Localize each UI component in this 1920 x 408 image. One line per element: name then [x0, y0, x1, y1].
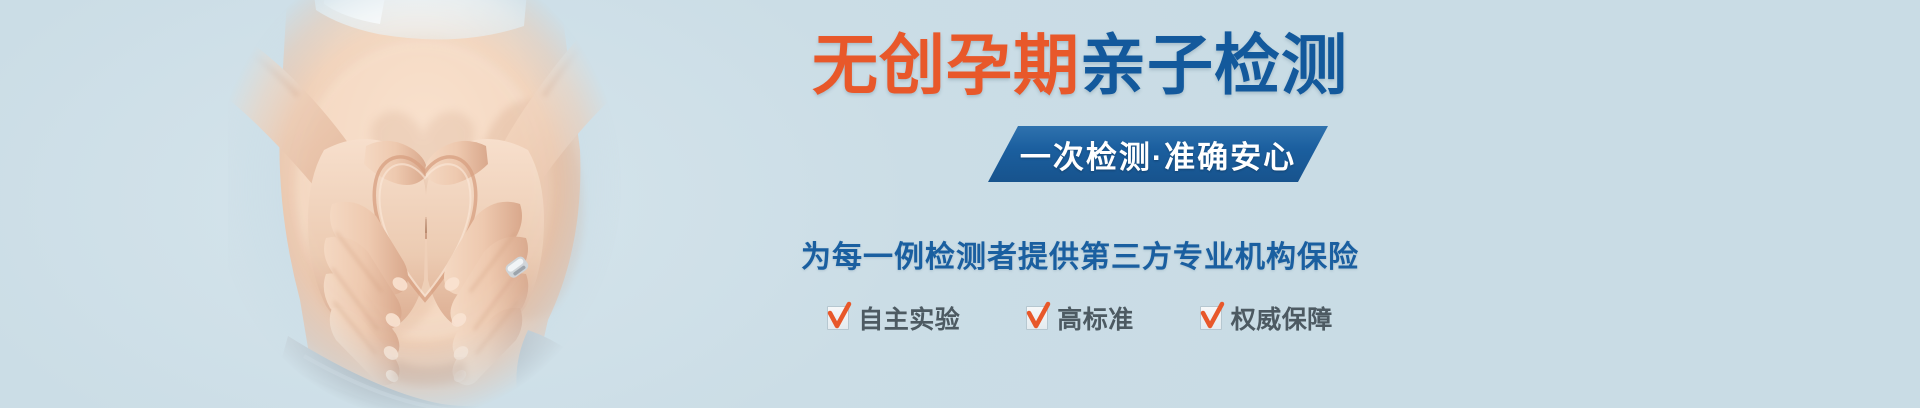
checkmark-icon [827, 306, 849, 330]
banner-content: 无创孕期亲子检测 一次检测·准确安心 为每一例检测者提供第三方专业机构保险 自主… [760, 0, 1400, 408]
feature-label-1: 自主实验 [858, 300, 960, 336]
headline-part-secondary: 亲子检测 [1080, 28, 1348, 102]
feature-label-2: 高标准 [1057, 300, 1134, 336]
checkmark-icon [1026, 306, 1048, 330]
ribbon-label: 一次检测·准确安心 [988, 126, 1328, 182]
feature-list: 自主实验 高标准 权威保障 [760, 300, 1400, 336]
promo-banner: 无创孕期亲子检测 一次检测·准确安心 为每一例检测者提供第三方专业机构保险 自主… [0, 0, 1920, 408]
feature-item-2[interactable]: 高标准 [1026, 300, 1134, 336]
feature-label-3: 权威保障 [1231, 300, 1333, 336]
checkmark-icon [1200, 306, 1222, 330]
feature-item-3[interactable]: 权威保障 [1200, 300, 1333, 336]
feature-item-1[interactable]: 自主实验 [827, 300, 960, 336]
tagline-text: 为每一例检测者提供第三方专业机构保险 [760, 232, 1400, 276]
page-title: 无创孕期亲子检测 [760, 32, 1400, 98]
headline-part-primary: 无创孕期 [812, 28, 1080, 102]
pregnant-belly-hands-heart-photo [228, 0, 628, 408]
